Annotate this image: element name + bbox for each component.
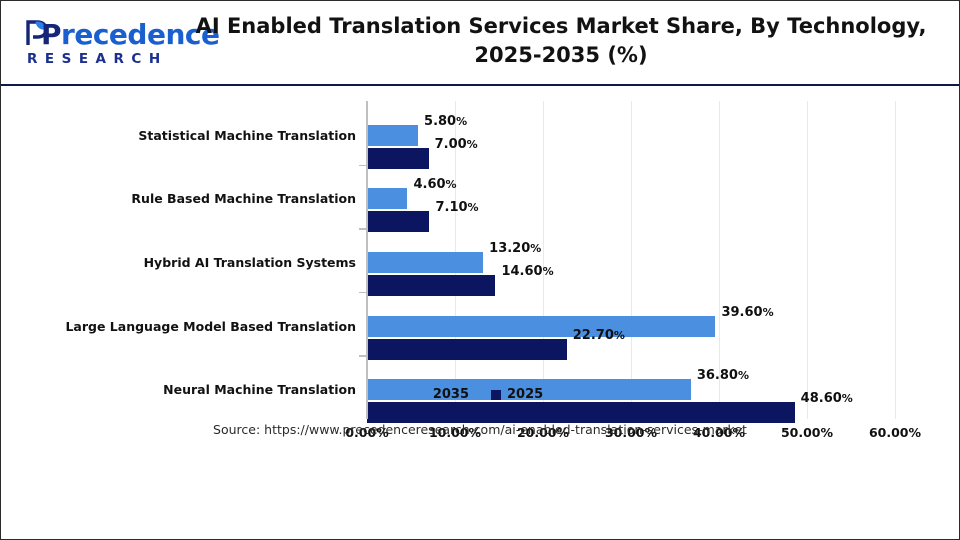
bar-value-label: 22.70%	[573, 325, 625, 346]
logo-wordmark-initial: P	[41, 18, 61, 51]
legend-item[interactable]: 2035	[417, 387, 469, 402]
legend-item[interactable]: 2025	[491, 387, 543, 402]
category-label: Rule Based Machine Translation	[131, 191, 356, 206]
precedence-research-logo: Precedence RESEARCH	[15, 18, 175, 70]
bar-value-label: 39.60%	[721, 302, 773, 323]
bar-value-label: 13.20%	[489, 238, 541, 259]
bar-value-label: 4.60%	[413, 174, 456, 195]
page-title: AI Enabled Translation Services Market S…	[191, 12, 931, 70]
x-gridline	[895, 101, 896, 419]
legend-swatch-icon	[491, 390, 501, 400]
bar-2035	[367, 252, 483, 273]
legend-swatch-icon	[417, 390, 427, 400]
y-axis-line	[366, 101, 368, 419]
category-label: Statistical Machine Translation	[138, 128, 356, 143]
legend-label: 2035	[433, 387, 469, 402]
source-caption: Source: https://www.precedenceresearch.c…	[1, 422, 959, 437]
bar-value-label: 7.00%	[435, 134, 478, 155]
x-gridline	[631, 101, 632, 419]
bar-2035	[367, 188, 407, 209]
bar-2035	[367, 316, 715, 337]
bar-value-label: 36.80%	[697, 365, 749, 386]
logo-subtitle: RESEARCH	[27, 51, 168, 67]
bar-2025	[367, 402, 795, 423]
bar-value-label: 5.80%	[424, 111, 467, 132]
bar-2025	[367, 275, 495, 296]
category-label: Hybrid AI Translation Systems	[144, 255, 356, 270]
y-axis-tick	[359, 228, 367, 230]
chart-container: 0.00%10.00%20.00%30.00%40.00%50.00%60.00…	[1, 87, 959, 539]
legend-label: 2025	[507, 387, 543, 402]
y-axis-tick	[359, 292, 367, 294]
bar-value-label: 14.60%	[501, 261, 553, 282]
y-axis-tick	[359, 355, 367, 357]
category-label: Large Language Model Based Translation	[65, 319, 356, 334]
x-gridline	[807, 101, 808, 419]
page-header: Precedence RESEARCH AI Enabled Translati…	[1, 1, 959, 86]
bar-2025	[367, 148, 429, 169]
bar-value-label: 7.10%	[435, 197, 478, 218]
chart-legend: 20352025	[1, 387, 959, 402]
bar-2035	[367, 125, 418, 146]
y-axis-tick	[359, 165, 367, 167]
x-gridline	[543, 101, 544, 419]
bar-2025	[367, 211, 429, 232]
bar-2025	[367, 339, 567, 360]
chart-page: Precedence RESEARCH AI Enabled Translati…	[0, 0, 960, 540]
